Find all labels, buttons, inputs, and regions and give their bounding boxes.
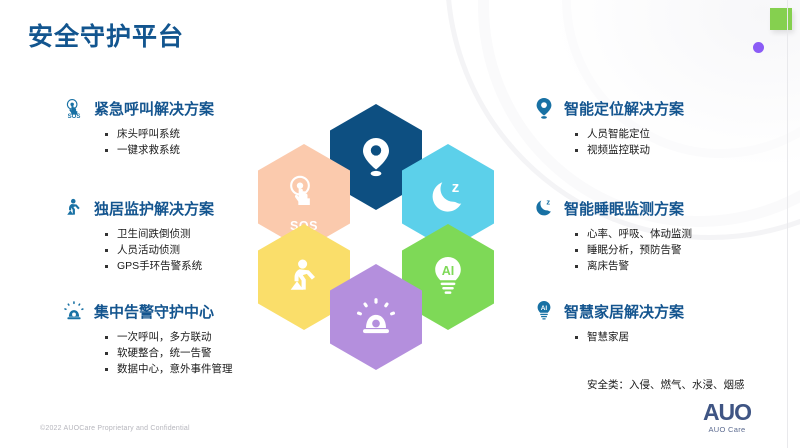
feature-sleep-monitoring: z 智能睡眠监测方案 心率、呼吸、体动监测 睡眠分析，预防告警 离床告警	[532, 196, 692, 274]
bullet-item: 人员活动侦测	[104, 242, 214, 258]
feature-bullets: 人员智能定位 视频监控联动	[532, 126, 684, 158]
feature-heading: 智能定位解决方案	[532, 96, 684, 120]
feature-bullets: 床头呼叫系统 一键求救系统	[62, 126, 214, 158]
feature-title: 独居监护解决方案	[94, 198, 214, 219]
feature-title: 智慧家居解决方案	[564, 301, 684, 322]
feature-heading: 独居监护解决方案	[62, 196, 214, 220]
sos-touch-icon	[284, 173, 324, 213]
bullet-item: 智慧家居	[574, 329, 745, 345]
bullet-item: 心率、呼吸、体动监测	[574, 226, 692, 242]
feature-title: 智能定位解决方案	[564, 98, 684, 119]
bullet-item: 一键求救系统	[104, 142, 214, 158]
bullet-item: 软硬整合，统一告警	[104, 345, 233, 361]
feature-heading: z 智能睡眠监测方案	[532, 196, 692, 220]
feature-bullets: 心率、呼吸、体动监测 睡眠分析，预防告警 离床告警	[532, 226, 692, 274]
bullet-item: 卫生间跌倒侦测	[104, 226, 214, 242]
bullet-item: 离床告警	[574, 258, 692, 274]
feature-bullets: 卫生间跌倒侦测 人员活动侦测 GPS手环告警系统	[62, 226, 214, 274]
feature-solo-living-monitor: 独居监护解决方案 卫生间跌倒侦测 人员活动侦测 GPS手环告警系统	[62, 196, 214, 274]
feature-title: 集中告警守护中心	[94, 301, 214, 322]
right-edge-divider	[787, 0, 788, 448]
feature-heading: AI 智慧家居解决方案	[532, 299, 745, 323]
moon-sleep-icon: z	[426, 175, 470, 219]
bullet-item: 人员智能定位	[574, 126, 684, 142]
feature-heading: 集中告警守护中心	[62, 299, 233, 323]
copyright-footer: ©2022 AUOCare Proprietary and Confidenti…	[40, 425, 190, 432]
person-fall-icon	[62, 196, 86, 220]
feature-heading: SOS 紧急呼叫解决方案	[62, 96, 214, 120]
svg-text:z: z	[452, 179, 460, 196]
bullet-item: GPS手环告警系统	[104, 258, 214, 274]
bullet-sub-text: 安全类：入侵、燃气、水浸、烟感	[587, 377, 745, 393]
page-title: 安全守护平台	[28, 17, 184, 53]
siren-alarm-icon	[62, 299, 86, 323]
decor-green-square	[770, 8, 792, 30]
location-pin-icon	[532, 96, 556, 120]
bullet-item: 一次呼叫，多方联动	[104, 329, 233, 345]
svg-text:AI: AI	[442, 264, 455, 278]
bullet-item: 床头呼叫系统	[104, 126, 214, 142]
feature-smart-positioning: 智能定位解决方案 人员智能定位 视频监控联动	[532, 96, 684, 158]
feature-bullets: 一次呼叫，多方联动 软硬整合，统一告警 数据中心，意外事件管理	[62, 329, 233, 377]
person-fall-icon	[283, 256, 325, 298]
auo-care-sublabel: AUO Care	[682, 425, 772, 434]
bullet-item: 数据中心，意外事件管理	[104, 361, 233, 377]
decor-purple-dot	[753, 42, 764, 53]
svg-text:AI: AI	[541, 305, 548, 312]
sos-touch-icon: SOS	[62, 96, 86, 120]
hexagon-cluster: SOS z AI	[258, 104, 494, 376]
bullet-item: 视频监控联动	[574, 142, 684, 158]
moon-sleep-icon: z	[532, 196, 556, 220]
slide-canvas: 安全守护平台 SOS 紧急呼叫解决方案 床头呼叫系统 一键求救系统	[0, 0, 800, 448]
feature-central-alarm-center: 集中告警守护中心 一次呼叫，多方联动 软硬整合，统一告警 数据中心，意外事件管理	[62, 299, 233, 377]
location-pin-icon	[356, 135, 396, 179]
feature-emergency-call: SOS 紧急呼叫解决方案 床头呼叫系统 一键求救系统	[62, 96, 214, 158]
ai-bulb-icon: AI	[428, 255, 468, 299]
feature-title: 紧急呼叫解决方案	[94, 98, 214, 119]
siren-alarm-icon	[355, 296, 397, 338]
auo-logo: AUO AUO Care	[682, 400, 772, 434]
svg-text:z: z	[546, 198, 550, 207]
feature-title: 智能睡眠监测方案	[564, 198, 684, 219]
auo-wordmark: AUO	[682, 400, 772, 424]
ai-bulb-icon: AI	[532, 299, 556, 323]
bullet-item: 睡眠分析，预防告警	[574, 242, 692, 258]
